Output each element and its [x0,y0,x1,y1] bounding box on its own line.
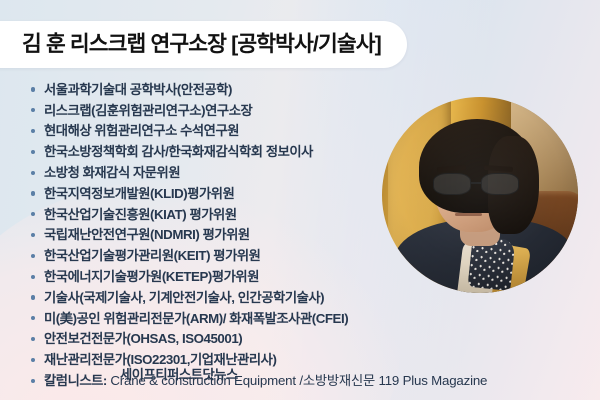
list-item: 국립재난안전연구원(NDMRI) 평가위원 [28,225,573,246]
list-item: 한국소방정책학회 감사/한국화재감식학회 정보이사 [28,141,573,162]
profile-slide: 김 훈 리스크랩 연구소장 [공학박사/기술사] 서울과학기술대 공학박사(안전… [0,0,600,400]
bullet-dot-icon [31,358,35,362]
bullet-dot-icon [31,150,35,154]
bullet-dot-icon [31,254,35,258]
list-item-label: 국립재난안전연구원(NDMRI) 평가위원 [44,228,250,241]
page-title: 김 훈 리스크랩 연구소장 [공학박사/기술사] [22,34,381,56]
list-item: 재난관리전문가(ISO22301,기업재난관리사) [28,349,573,370]
columnist-continuation: 세이프티퍼스트닷뉴스 [120,368,238,381]
list-item-label: 칼럼니스트: Crane & construction Equipment /소… [44,374,487,387]
list-item: 안전보건전문가(OHSAS, ISO45001) [28,329,573,350]
bullet-dot-icon [31,275,35,279]
list-item-columnist: 칼럼니스트: Crane & construction Equipment /소… [28,370,573,391]
list-item: 한국에너지기술평가원(KETEP)평가위원 [28,266,573,287]
list-item-label: 한국산업기술진흥원(KIAT) 평가위원 [44,208,237,221]
list-item: 한국산업기술평가관리원(KEIT) 평가위원 [28,245,573,266]
list-item: 미(美)공인 위험관리전문가(ARM)/ 화재폭발조사관(CFEI) [28,308,573,329]
list-item: 한국산업기술진흥원(KIAT) 평가위원 [28,204,573,225]
list-item-label: 한국에너지기술평가원(KETEP)평가위원 [44,270,259,283]
list-item-label: 기술사(국제기술사, 기계안전기술사, 인간공학기술사) [44,291,324,304]
list-item: 소방청 화재감식 자문위원 [28,162,573,183]
list-item-label: 리스크랩(김훈위험관리연구소)연구소장 [44,104,252,117]
list-item-label: 한국산업기술평가관리원(KEIT) 평가위원 [44,249,260,262]
list-item: 서울과학기술대 공학박사(안전공학) [28,79,573,100]
bullet-dot-icon [31,379,35,383]
bullet-dot-icon [31,316,35,320]
bullet-dot-icon [31,212,35,216]
list-item-label: 현대해상 위험관리연구소 수석연구원 [44,124,239,137]
bullet-dot-icon [31,191,35,195]
columnist-label: 칼럼니스트: [44,373,107,388]
list-item-label: 안전보건전문가(OHSAS, ISO45001) [44,332,242,345]
list-item: 현대해상 위험관리연구소 수석연구원 [28,121,573,142]
list-item-label: 소방청 화재감식 자문위원 [44,166,180,179]
title-pill: 김 훈 리스크랩 연구소장 [공학박사/기술사] [0,21,407,68]
bullet-dot-icon [31,87,35,91]
list-item-label: 한국소방정책학회 감사/한국화재감식학회 정보이사 [44,145,313,158]
list-item-label: 한국지역정보개발원(KLID)평가위원 [44,187,234,200]
list-item-label: 재난관리전문가(ISO22301,기업재난관리사) [44,353,276,366]
bullet-dot-icon [31,171,35,175]
list-item: 한국지역정보개발원(KLID)평가위원 [28,183,573,204]
list-item: 기술사(국제기술사, 기계안전기술사, 인간공학기술사) [28,287,573,308]
bullet-dot-icon [31,233,35,237]
bullet-dot-icon [31,108,35,112]
bullet-dot-icon [31,295,35,299]
bullet-dot-icon [31,337,35,341]
list-item-label: 서울과학기술대 공학박사(안전공학) [44,83,232,96]
credentials-list: 서울과학기술대 공학박사(안전공학) 리스크랩(김훈위험관리연구소)연구소장 현… [28,79,573,391]
list-item: 리스크랩(김훈위험관리연구소)연구소장 [28,100,573,121]
list-item-label: 미(美)공인 위험관리전문가(ARM)/ 화재폭발조사관(CFEI) [44,312,348,325]
bullet-dot-icon [31,129,35,133]
